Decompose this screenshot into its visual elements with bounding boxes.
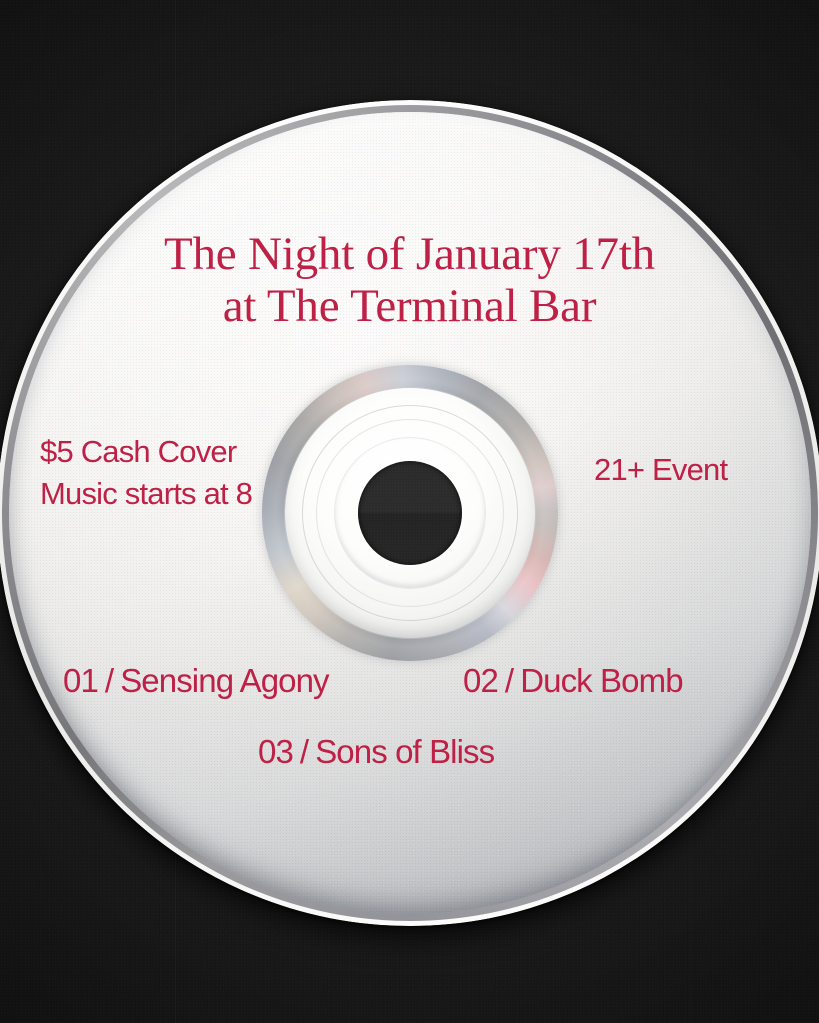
track-number: 02 <box>463 662 498 699</box>
tracklist-item-1: 01/Sensing Agony <box>63 662 329 700</box>
track-title: Sensing Agony <box>120 662 328 699</box>
start-time-text: Music starts at 8 <box>40 473 252 515</box>
cover-charge-text: $5 Cash Cover <box>40 431 252 473</box>
track-number: 03 <box>258 733 293 770</box>
event-headline: The Night of January 17th at The Termina… <box>0 228 819 332</box>
track-title: Duck Bomb <box>520 662 682 699</box>
track-title: Sons of Bliss <box>315 733 494 770</box>
disc-center-hole-texture <box>358 461 462 565</box>
track-separator: / <box>498 662 520 699</box>
headline-line-2: at The Terminal Bar <box>0 280 819 332</box>
headline-line-1: The Night of January 17th <box>0 228 819 280</box>
track-number: 01 <box>63 662 98 699</box>
artwork-canvas: The Night of January 17th at The Termina… <box>0 0 819 1023</box>
admission-note: $5 Cash Cover Music starts at 8 <box>40 431 252 515</box>
tracklist-item-3: 03/Sons of Bliss <box>258 733 494 771</box>
tracklist-item-2: 02/Duck Bomb <box>463 662 683 700</box>
track-separator: / <box>293 733 315 770</box>
track-separator: / <box>98 662 120 699</box>
age-restriction-note: 21+ Event <box>594 452 727 488</box>
